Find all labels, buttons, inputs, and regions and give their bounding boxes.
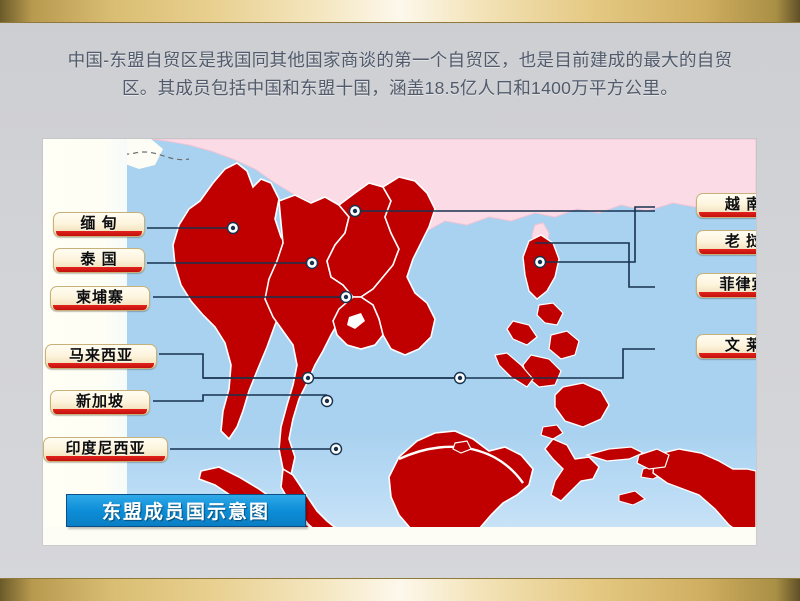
country-philippines-isles-a — [537, 303, 563, 325]
map-graphics — [43, 139, 756, 545]
map-title-banner: 东盟成员国示意图 — [66, 494, 306, 527]
left-country-label-4[interactable]: 新加坡 — [50, 390, 150, 415]
label-column-background — [43, 139, 127, 545]
left-country-label-2[interactable]: 柬埔寨 — [50, 286, 150, 311]
right-country-label-1[interactable]: 老 挝 — [696, 230, 756, 255]
country-philippines-mindanao — [555, 383, 609, 427]
island-sulawesi-arm — [587, 447, 643, 461]
country-philippines-isles-c — [549, 331, 579, 359]
heading-line-2: 区。其成员包括中国和东盟十国，涵盖18.5亿人口和1400万平方公里。 — [38, 74, 762, 102]
island-sulawesi — [545, 439, 599, 501]
right-country-label-0[interactable]: 越 南 — [696, 193, 756, 218]
islands-banda — [619, 491, 645, 505]
left-country-label-0[interactable]: 缅 甸 — [53, 212, 145, 237]
top-gold-bar — [0, 0, 800, 23]
heading-line-1: 中国-东盟自贸区是我国同其他国家商谈的第一个自贸区，也是目前建成的最大的自贸 — [38, 46, 762, 74]
country-philippines-sulu — [541, 425, 563, 439]
slide-heading: 中国-东盟自贸区是我国同其他国家商谈的第一个自贸区，也是目前建成的最大的自贸 区… — [38, 46, 762, 102]
left-country-label-5[interactable]: 印度尼西亚 — [43, 437, 168, 462]
slide-canvas: 中国-东盟自贸区是我国同其他国家商谈的第一个自贸区，也是目前建成的最大的自贸 区… — [0, 0, 800, 601]
asean-member-map: 缅 甸泰 国柬埔寨马来西亚新加坡印度尼西亚 越 南老 挝菲律宾文 莱 东盟成员国… — [43, 139, 756, 545]
bottom-gold-bar — [0, 578, 800, 601]
left-country-label-3[interactable]: 马来西亚 — [45, 344, 157, 369]
right-country-label-3[interactable]: 文 莱 — [696, 334, 756, 359]
right-country-label-2[interactable]: 菲律宾 — [696, 273, 756, 298]
country-philippines-isles-b — [507, 321, 537, 345]
left-country-label-1[interactable]: 泰 国 — [53, 248, 145, 273]
map-bottom-strip — [43, 527, 756, 545]
island-papua — [653, 449, 756, 535]
leader-line-brunei — [203, 349, 655, 378]
